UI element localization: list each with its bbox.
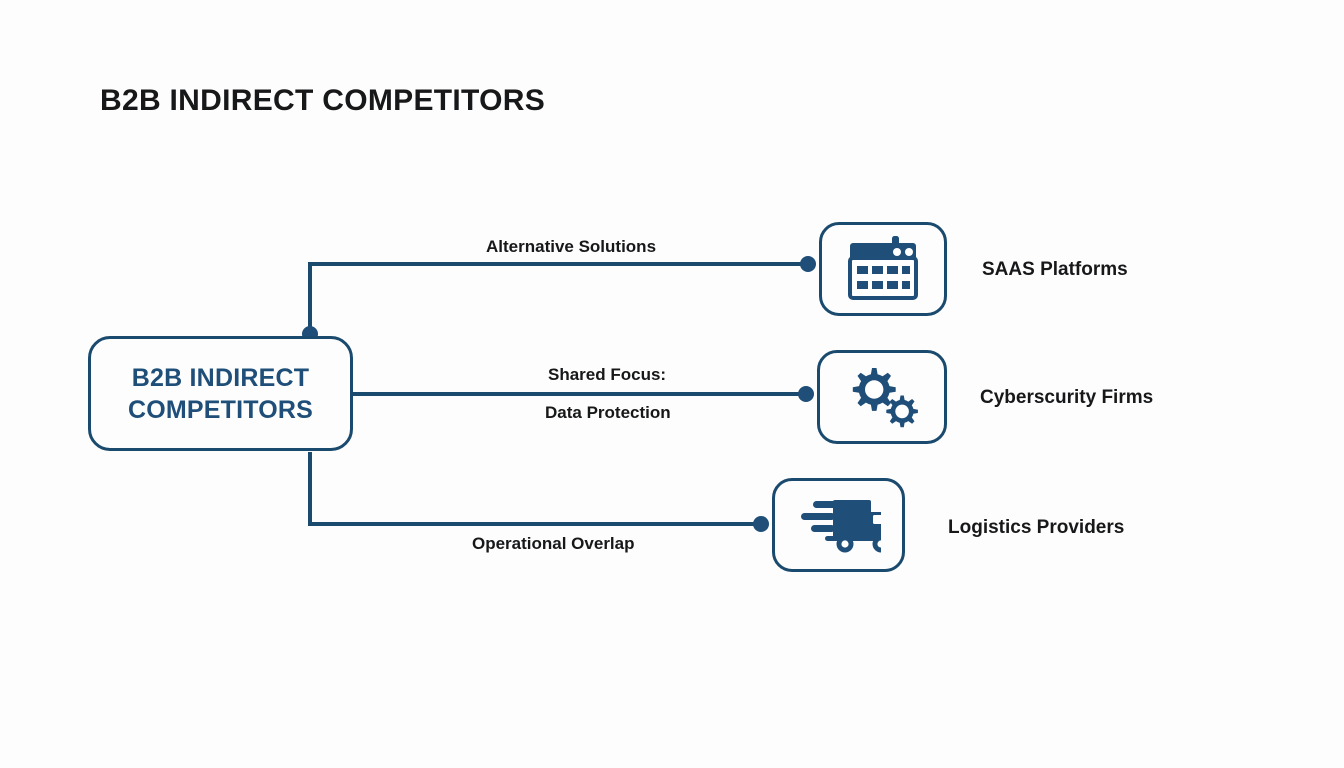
icon-box-saas[interactable]	[819, 222, 947, 316]
edge-label-logistics: Operational Overlap	[472, 534, 635, 554]
connector-path-logistics	[310, 452, 759, 524]
diagram-canvas: B2B INDIRECT COMPETITORS B2B INDIRECT CO…	[0, 0, 1344, 768]
icon-box-logistics[interactable]	[772, 478, 905, 572]
center-node-label-line2: COMPETITORS	[128, 394, 313, 426]
calendar-icon	[845, 236, 921, 302]
node-label-logistics: Logistics Providers	[948, 517, 1124, 539]
connector-dot-saas	[800, 256, 816, 272]
node-label-saas: SAAS Platforms	[982, 259, 1128, 281]
connector-dot-cybersecurity	[798, 386, 814, 402]
edge-label-cybersecurity-line1: Shared Focus:	[548, 365, 666, 385]
icon-box-cybersecurity[interactable]	[817, 350, 947, 444]
node-label-cybersecurity: Cyberscurity Firms	[980, 387, 1153, 409]
delivery-truck-icon	[797, 496, 881, 554]
connector-path-saas	[310, 264, 806, 334]
center-node[interactable]: B2B INDIRECT COMPETITORS	[88, 336, 353, 451]
connector-dot-logistics	[753, 516, 769, 532]
edge-label-saas: Alternative Solutions	[486, 237, 656, 257]
gears-icon	[842, 362, 922, 432]
center-node-label-line1: B2B INDIRECT	[128, 362, 313, 394]
edge-label-cybersecurity-line2: Data Protection	[545, 403, 671, 423]
center-node-label: B2B INDIRECT COMPETITORS	[128, 362, 313, 426]
